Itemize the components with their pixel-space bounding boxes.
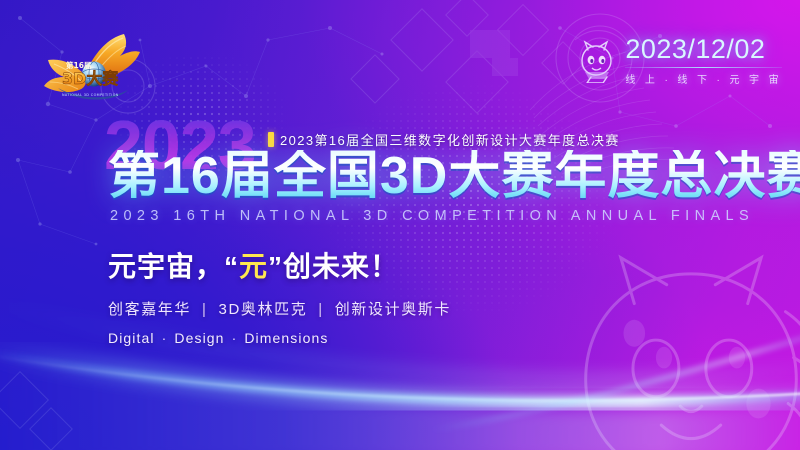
track-2: 3D奥林匹克 — [219, 301, 308, 318]
slogan-tracks-cn: 创客嘉年华|3D奥林匹克|创新设计奥斯卡 — [108, 298, 451, 319]
track-en-separator-1: · — [155, 330, 175, 346]
slogan-main: 元宇宙，“元”创未来！ — [108, 245, 451, 285]
slogan-part-2: ”创未来！ — [268, 251, 399, 282]
slogan-block: 元宇宙，“元”创未来！ 创客嘉年华|3D奥林匹克|创新设计奥斯卡 Digital… — [108, 245, 451, 346]
track-en-separator-2: · — [225, 330, 245, 346]
track-3: 创新设计奥斯卡 — [335, 301, 451, 318]
poster-canvas: 第16届 3D大赛 NATIONAL 3D COMPETITION — [0, 0, 800, 450]
date-divider — [625, 67, 782, 68]
cat-mascot-outline-icon — [556, 228, 800, 450]
logo-mark-text: 3D大赛 — [62, 69, 119, 88]
winged-logo-art: 第16届 3D大赛 NATIONAL 3D COMPETITION — [24, 24, 156, 106]
logo-sub-mark-text: NATIONAL 3D COMPETITION — [62, 93, 119, 97]
track-separator-1: | — [191, 301, 219, 318]
date-text-group: 2023/12/02 线 上 · 线 下 · 元 宇 宙 — [625, 36, 782, 86]
track-en-2: Design — [174, 330, 224, 346]
track-en-3: Dimensions — [244, 330, 328, 346]
3d-competition-winged-logo[interactable]: 第16届 3D大赛 NATIONAL 3D COMPETITION — [24, 24, 156, 106]
slogan-highlight: 元 — [239, 251, 268, 282]
slogan-tracks-en: Digital·Design·Dimensions — [108, 330, 451, 346]
page-title: 第16届全国3D大赛年度总决赛 — [108, 150, 800, 202]
track-separator-2: | — [307, 301, 335, 318]
cat-mascot-icon — [577, 39, 617, 83]
slogan-part-1: 元宇宙，“ — [108, 251, 239, 282]
event-date-block: 2023/12/02 线 上 · 线 下 · 元 宇 宙 — [577, 36, 782, 86]
eyebrow-accent-bar — [268, 132, 274, 147]
english-title: 2023 16TH NATIONAL 3D COMPETITION ANNUAL… — [110, 208, 754, 224]
event-date: 2023/12/02 — [625, 36, 782, 63]
event-channels: 线 上 · 线 下 · 元 宇 宙 — [625, 71, 782, 86]
track-1: 创客嘉年华 — [108, 301, 191, 318]
track-en-1: Digital — [108, 330, 155, 346]
